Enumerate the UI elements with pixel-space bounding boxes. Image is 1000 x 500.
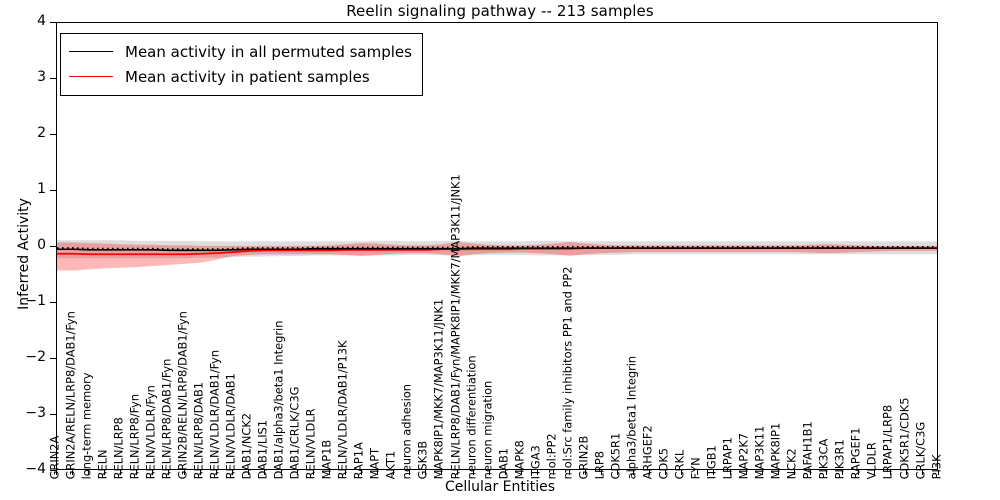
- x-tick-label: LRPAP1: [723, 437, 734, 479]
- x-tick-label: MAP3K11: [755, 426, 766, 480]
- x-tick-label: RAP1A: [354, 442, 365, 479]
- x-tick-label: NCK2: [787, 448, 798, 479]
- legend-line-patient: [69, 76, 113, 77]
- x-tick-label: long-term memory: [81, 372, 92, 479]
- x-tick-label: RELN/LRP8/DAB1: [194, 382, 205, 479]
- x-tick-label: PIK3R1: [835, 439, 846, 479]
- x-tick-label: MAP2K7: [739, 433, 750, 479]
- y-axis-label: Inferred Activity: [16, 134, 32, 374]
- x-tick-label: MAPK8IP1: [771, 423, 782, 480]
- legend-item-permuted: Mean activity in all permuted samples: [69, 39, 412, 64]
- x-tick-label: alpha3/beta1 Integrin: [627, 356, 638, 480]
- x-tick-label: PAFAH1B1: [803, 421, 814, 479]
- y-tick-label: 3: [14, 69, 46, 85]
- x-tick-label: RELN: [97, 449, 108, 479]
- x-tick-label: mol:Src family inhibitors PP1 and PP2: [562, 267, 573, 480]
- legend-label-permuted: Mean activity in all permuted samples: [125, 43, 412, 61]
- x-tick-label: ITGA3: [530, 445, 541, 479]
- x-tick-label: MAPK8IP1/MKK7/MAP3K11/JNK1: [434, 299, 445, 480]
- y-tick-label: −3: [14, 405, 46, 421]
- x-tick-label: VLDLR: [867, 442, 878, 479]
- x-tick-label: DAB1: [498, 448, 509, 479]
- x-tick-label: neuron migration: [482, 381, 493, 480]
- x-tick-label: PIK3CA: [819, 439, 830, 480]
- x-tick-label: mol:PP2: [546, 433, 557, 479]
- x-tick-label: GRIN2B/RELN/LRP8/DAB1/Fyn: [177, 311, 188, 479]
- x-axis-label: Cellular Entities: [0, 479, 1000, 495]
- x-tick-label: ARHGEF2: [643, 425, 654, 479]
- chart-figure: Reelin signaling pathway -- 213 samples …: [0, 0, 1000, 500]
- x-tick-label: RELN/LRP8: [113, 417, 124, 479]
- x-tick-label: GSK3B: [418, 441, 429, 480]
- x-tick-label: MAPK8: [514, 440, 525, 479]
- x-tick-label: ITGB1: [707, 445, 718, 479]
- x-tick-label: GRIN2B: [578, 436, 589, 480]
- x-tick-label: MAPT: [370, 448, 381, 479]
- x-tick-label: RELN/VLDLR/DAB1/Fyn: [210, 350, 221, 480]
- y-tick-label: 4: [14, 13, 46, 29]
- x-tick-label: RELN/VLDLR: [306, 408, 317, 479]
- legend-item-patient: Mean activity in patient samples: [69, 64, 412, 89]
- x-tick-label: DAB1/LIS1: [258, 420, 269, 479]
- x-tick-label: RELN/LRP8/DAB1/Fyn/MAPK8IP1/MKK7/MAP3K11…: [450, 174, 461, 479]
- y-tick-label: −4: [14, 461, 46, 477]
- x-tick-label: neuron adhesion: [402, 384, 413, 479]
- x-tick-label: RELN/VLDLR/DAB1: [226, 373, 237, 479]
- x-tick-label: RAPGEF1: [851, 427, 862, 479]
- x-tick-label: RELN/VLDLR/Fyn: [145, 385, 156, 479]
- x-tick-label: neuron differentiation: [466, 355, 477, 479]
- x-tick-label: CDK5R1/CDK5: [899, 398, 910, 480]
- x-tick-label: RELN/VLDLR/DAB1/P13K: [338, 340, 349, 479]
- x-tick-label: PI3K: [931, 454, 942, 479]
- x-tick-label: RELN/LRP8/Fyn: [129, 394, 140, 480]
- legend-label-patient: Mean activity in patient samples: [125, 68, 370, 86]
- legend-line-permuted: [69, 51, 113, 52]
- x-tick-label: FYN: [691, 457, 702, 479]
- x-tick-label: CDK5: [659, 448, 670, 479]
- x-tick-label: RELN/LRP8/DAB1/Fyn: [161, 359, 172, 480]
- x-tick-label: LRPAP1/LRP8: [883, 405, 894, 480]
- x-tick-label: AKT1: [386, 451, 397, 480]
- x-tick-label: LRP8: [594, 451, 605, 479]
- chart-legend: Mean activity in all permuted samples Me…: [60, 33, 423, 96]
- x-tick-label: MAP1B: [322, 440, 333, 480]
- x-tick-label: CRKL: [675, 450, 686, 480]
- x-tick-label: DAB1/CRLK/C3G: [290, 387, 301, 480]
- x-tick-label: CDK5R1: [610, 433, 621, 480]
- x-tick-label: DAB1/alpha3/beta1 Integrin: [274, 321, 285, 480]
- x-tick-label: CRLK/C3G: [915, 422, 926, 480]
- x-tick-label: GRIN2A: [49, 436, 60, 480]
- x-tick-label: DAB1/NCK2: [242, 413, 253, 479]
- x-tick-label: GRIN2A/RELN/LRP8/DAB1/Fyn: [65, 311, 76, 479]
